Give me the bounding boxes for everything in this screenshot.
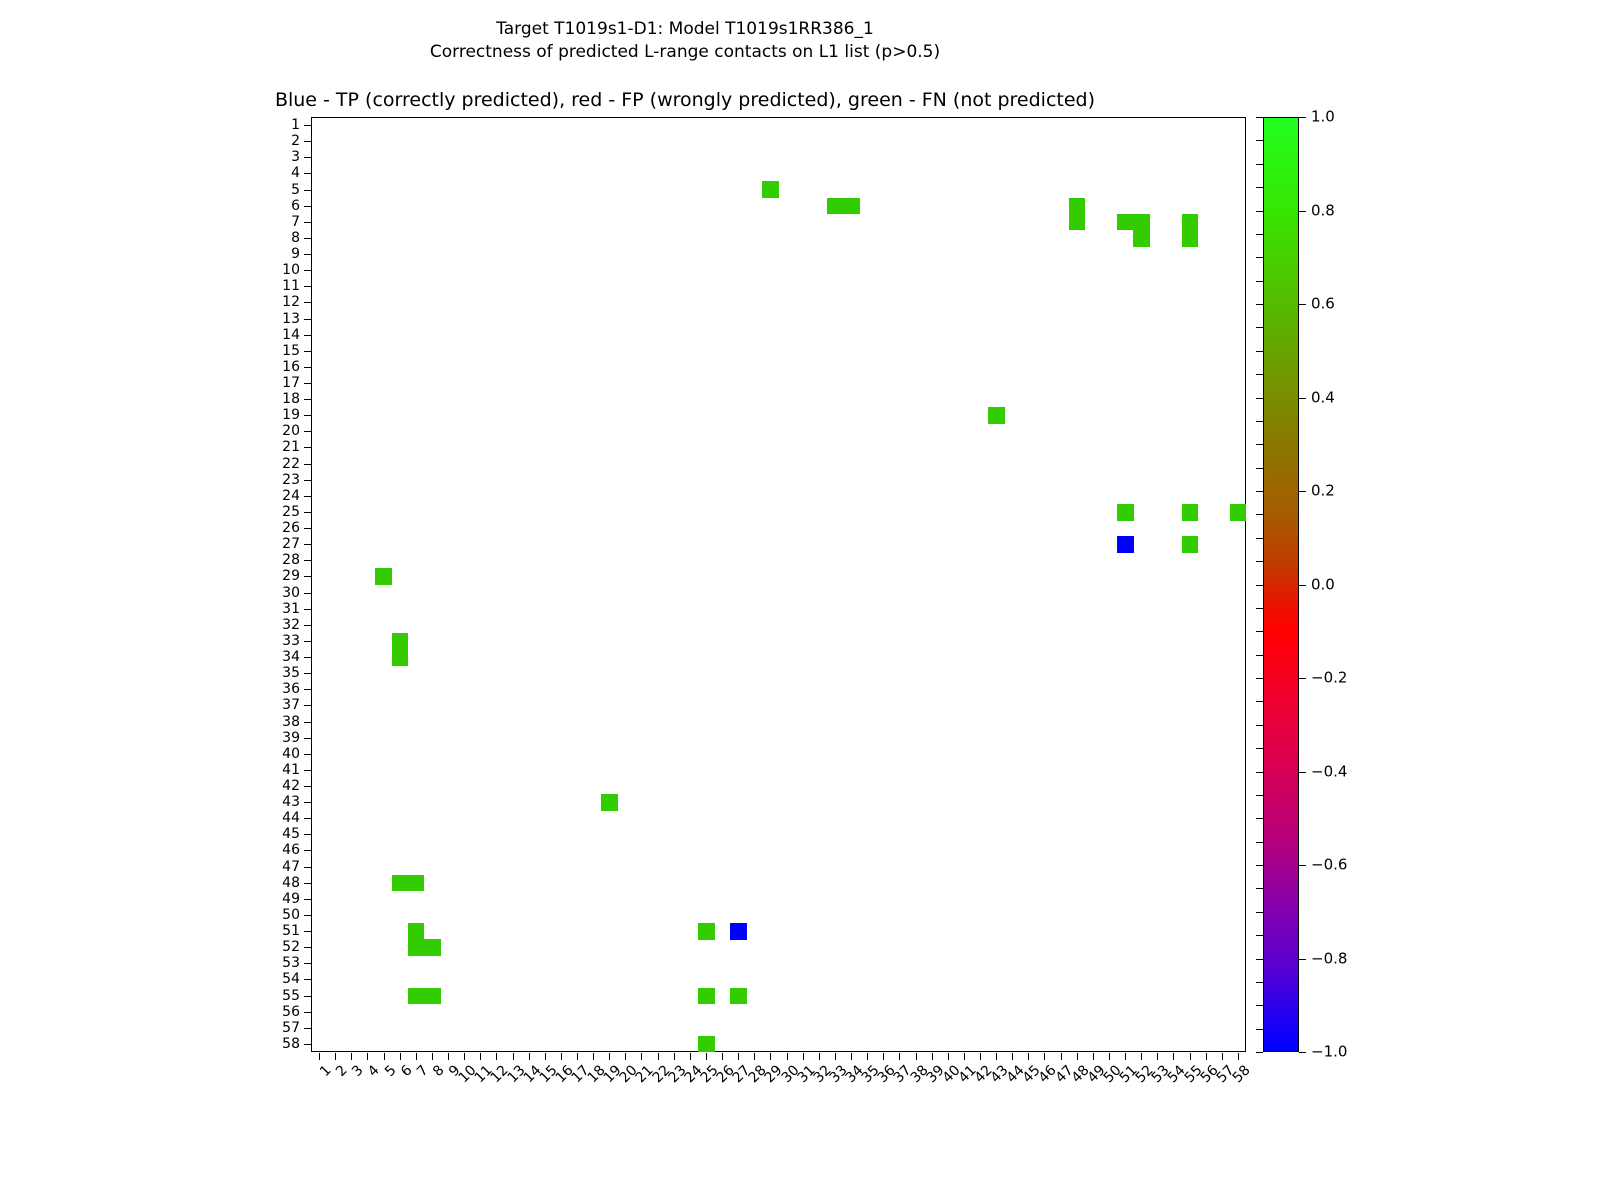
y-tick-54	[304, 979, 311, 980]
y-tick-28	[304, 560, 311, 561]
x-tick-3	[351, 1053, 352, 1060]
x-tick-label-5: 5	[382, 1063, 398, 1079]
x-tick-23	[674, 1053, 675, 1060]
x-tick-39	[932, 1053, 933, 1060]
y-tick-51	[304, 931, 311, 932]
colorbar-tick-label-0.6: 0.6	[1311, 297, 1335, 312]
colorbar-minor-tick	[1256, 514, 1263, 515]
y-tick-label-40: 40	[282, 747, 300, 761]
colorbar-minor-tick	[1256, 1029, 1263, 1030]
y-tick-8	[304, 238, 311, 239]
y-tick-22	[304, 464, 311, 465]
y-tick-label-46: 46	[282, 843, 300, 857]
contact-cell-fn-r27-c55	[1182, 536, 1199, 553]
x-tick-42	[980, 1053, 981, 1060]
y-tick-label-26: 26	[282, 521, 300, 535]
y-tick-56	[304, 1012, 311, 1013]
y-tick-18	[304, 399, 311, 400]
y-tick-57	[304, 1028, 311, 1029]
x-tick-30	[787, 1053, 788, 1060]
colorbar-tick-1.0	[1299, 117, 1306, 118]
y-tick-45	[304, 834, 311, 835]
colorbar-minor-tick	[1256, 444, 1263, 445]
x-tick-8	[432, 1053, 433, 1060]
contact-cell-fn-r6-c33	[827, 198, 844, 215]
x-tick-37	[899, 1053, 900, 1060]
y-tick-label-50: 50	[282, 908, 300, 922]
x-tick-21	[641, 1053, 642, 1060]
x-tick-28	[754, 1053, 755, 1060]
x-tick-6	[400, 1053, 401, 1060]
colorbar-tick-label-0.0: 0.0	[1311, 577, 1335, 592]
y-tick-label-39: 39	[282, 731, 300, 745]
y-tick-label-54: 54	[282, 972, 300, 986]
y-tick-49	[304, 899, 311, 900]
x-tick-44	[1012, 1053, 1013, 1060]
y-tick-24	[304, 496, 311, 497]
y-tick-label-18: 18	[282, 392, 300, 406]
x-tick-48	[1077, 1053, 1078, 1060]
y-tick-7	[304, 222, 311, 223]
colorbar-minor-tick	[1256, 398, 1263, 399]
x-tick-24	[690, 1053, 691, 1060]
colorbar-tick-label-0.2: 0.2	[1311, 484, 1335, 499]
x-tick-58	[1238, 1053, 1239, 1060]
colorbar-minor-tick	[1256, 421, 1263, 422]
colorbar-minor-tick	[1256, 468, 1263, 469]
y-tick-23	[304, 480, 311, 481]
y-tick-42	[304, 786, 311, 787]
contact-map-plot: 1234567891011121314151617181920212223242…	[311, 117, 1246, 1052]
contact-cell-fn-r55-c27	[730, 988, 747, 1005]
y-tick-label-4: 4	[291, 166, 300, 180]
colorbar-minor-tick	[1256, 608, 1263, 609]
x-tick-9	[448, 1053, 449, 1060]
contact-cell-fn-r6-c34	[843, 198, 860, 215]
y-tick-58	[304, 1044, 311, 1045]
colorbar-tick-label-0.8: 0.8	[1311, 203, 1335, 218]
contact-cell-fn-r25-c51	[1117, 504, 1134, 521]
y-tick-label-31: 31	[282, 602, 300, 616]
colorbar-minor-tick	[1256, 748, 1263, 749]
y-tick-label-19: 19	[282, 408, 300, 422]
y-tick-label-22: 22	[282, 457, 300, 471]
contact-cell-fn-r43-c19	[601, 794, 618, 811]
x-tick-40	[948, 1053, 949, 1060]
colorbar-minor-tick	[1256, 772, 1263, 773]
y-tick-label-47: 47	[282, 860, 300, 874]
y-tick-label-16: 16	[282, 360, 300, 374]
contact-cell-fn-r52-c7	[408, 939, 425, 956]
y-tick-label-36: 36	[282, 682, 300, 696]
x-tick-57	[1222, 1053, 1223, 1060]
colorbar-tick-−0.6	[1299, 865, 1306, 866]
colorbar-minor-tick	[1256, 959, 1263, 960]
y-tick-label-21: 21	[282, 440, 300, 454]
x-tick-label-1: 1	[318, 1063, 334, 1079]
x-tick-51	[1125, 1053, 1126, 1060]
x-tick-11	[480, 1053, 481, 1060]
y-tick-5	[304, 190, 311, 191]
contact-cell-fn-r7-c48	[1069, 214, 1086, 231]
colorbar-tick-label-−0.2: −0.2	[1311, 671, 1347, 686]
colorbar-minor-tick	[1256, 211, 1263, 212]
colorbar-tick-−0.4	[1299, 772, 1306, 773]
y-tick-label-11: 11	[282, 279, 300, 293]
y-tick-label-2: 2	[291, 134, 300, 148]
y-tick-35	[304, 673, 311, 674]
contact-cell-fn-r55-c25	[698, 988, 715, 1005]
contact-cell-fn-r7-c52	[1133, 214, 1150, 231]
figure-title-line-1: Target T1019s1-D1: Model T1019s1RR386_1	[0, 18, 1370, 41]
contact-cell-fn-r48-c7	[408, 875, 425, 892]
contact-cell-fn-r8-c52	[1133, 230, 1150, 247]
colorbar-tick-label-−0.6: −0.6	[1311, 858, 1347, 873]
y-tick-52	[304, 947, 311, 948]
y-tick-label-10: 10	[282, 263, 300, 277]
y-tick-39	[304, 738, 311, 739]
y-tick-44	[304, 818, 311, 819]
y-tick-label-29: 29	[282, 569, 300, 583]
y-tick-label-23: 23	[282, 473, 300, 487]
x-tick-36	[883, 1053, 884, 1060]
y-tick-label-27: 27	[282, 537, 300, 551]
y-tick-label-17: 17	[282, 376, 300, 390]
colorbar-tick-label-1.0: 1.0	[1311, 110, 1335, 125]
colorbar-minor-tick	[1256, 678, 1263, 679]
x-tick-53	[1157, 1053, 1158, 1060]
x-tick-7	[416, 1053, 417, 1060]
y-tick-50	[304, 915, 311, 916]
colorbar-minor-tick	[1256, 304, 1263, 305]
y-tick-label-35: 35	[282, 666, 300, 680]
x-tick-54	[1173, 1053, 1174, 1060]
contact-cell-fn-r19-c43	[988, 407, 1005, 424]
colorbar-minor-tick	[1256, 725, 1263, 726]
y-tick-label-25: 25	[282, 505, 300, 519]
x-tick-49	[1093, 1053, 1094, 1060]
contact-cell-fn-r51-c7	[408, 923, 425, 940]
y-tick-27	[304, 544, 311, 545]
y-tick-label-33: 33	[282, 634, 300, 648]
colorbar-minor-tick	[1256, 164, 1263, 165]
contact-cell-fn-r55-c8	[424, 988, 441, 1005]
y-tick-53	[304, 963, 311, 964]
contact-cell-tp-r51-c27	[730, 923, 747, 940]
y-tick-34	[304, 657, 311, 658]
y-tick-label-30: 30	[282, 586, 300, 600]
colorbar-tick-0.0	[1299, 585, 1306, 586]
y-tick-37	[304, 705, 311, 706]
x-tick-label-58: 58	[1230, 1063, 1253, 1086]
contact-cell-fn-r7-c51	[1117, 214, 1134, 231]
contact-cells-layer	[311, 117, 1246, 1052]
y-tick-15	[304, 351, 311, 352]
y-tick-21	[304, 447, 311, 448]
x-tick-15	[545, 1053, 546, 1060]
colorbar-tick-0.4	[1299, 398, 1306, 399]
y-tick-label-37: 37	[282, 698, 300, 712]
y-tick-2	[304, 141, 311, 142]
colorbar-minor-tick	[1256, 561, 1263, 562]
x-tick-label-2: 2	[334, 1063, 350, 1079]
contact-cell-fn-r34-c6	[392, 649, 409, 666]
contact-cell-fn-r55-c7	[408, 988, 425, 1005]
y-tick-label-8: 8	[291, 231, 300, 245]
y-tick-label-45: 45	[282, 827, 300, 841]
y-tick-3	[304, 157, 311, 158]
x-tick-22	[658, 1053, 659, 1060]
y-tick-25	[304, 512, 311, 513]
x-tick-33	[835, 1053, 836, 1060]
y-tick-55	[304, 996, 311, 997]
colorbar-minor-tick	[1256, 187, 1263, 188]
y-tick-12	[304, 302, 311, 303]
colorbar-minor-tick	[1256, 982, 1263, 983]
axes-title-legend: Blue - TP (correctly predicted), red - F…	[0, 88, 1370, 112]
colorbar-gradient	[1263, 117, 1299, 1052]
x-tick-26	[722, 1053, 723, 1060]
colorbar-minor-tick	[1256, 140, 1263, 141]
y-tick-label-34: 34	[282, 650, 300, 664]
y-tick-17	[304, 383, 311, 384]
y-tick-label-44: 44	[282, 811, 300, 825]
colorbar-minor-tick	[1256, 585, 1263, 586]
y-tick-1	[304, 125, 311, 126]
y-tick-label-51: 51	[282, 924, 300, 938]
x-tick-34	[851, 1053, 852, 1060]
x-tick-29	[770, 1053, 771, 1060]
y-tick-38	[304, 722, 311, 723]
y-tick-label-58: 58	[282, 1037, 300, 1051]
y-tick-label-3: 3	[291, 150, 300, 164]
x-tick-25	[706, 1053, 707, 1060]
colorbar-tick-0.2	[1299, 491, 1306, 492]
y-tick-label-24: 24	[282, 489, 300, 503]
x-tick-52	[1141, 1053, 1142, 1060]
colorbar-minor-tick	[1256, 842, 1263, 843]
y-tick-43	[304, 802, 311, 803]
x-tick-4	[367, 1053, 368, 1060]
x-tick-46	[1044, 1053, 1045, 1060]
colorbar-tick-label-0.4: 0.4	[1311, 390, 1335, 405]
x-tick-35	[867, 1053, 868, 1060]
contact-cell-fn-r29-c5	[375, 568, 392, 585]
contact-cell-fn-r25-c55	[1182, 504, 1199, 521]
y-tick-label-9: 9	[291, 247, 300, 261]
colorbar-tick-0.8	[1299, 211, 1306, 212]
x-tick-45	[1028, 1053, 1029, 1060]
y-tick-30	[304, 593, 311, 594]
colorbar-minor-tick	[1256, 117, 1263, 118]
x-tick-50	[1109, 1053, 1110, 1060]
colorbar-minor-tick	[1256, 935, 1263, 936]
y-tick-6	[304, 206, 311, 207]
y-tick-36	[304, 689, 311, 690]
y-tick-label-20: 20	[282, 424, 300, 438]
y-tick-label-1: 1	[291, 118, 300, 132]
colorbar-minor-tick	[1256, 865, 1263, 866]
y-tick-label-53: 53	[282, 956, 300, 970]
y-tick-10	[304, 270, 311, 271]
y-tick-label-7: 7	[291, 215, 300, 229]
x-tick-43	[996, 1053, 997, 1060]
x-tick-label-7: 7	[414, 1063, 430, 1079]
x-tick-16	[561, 1053, 562, 1060]
y-tick-20	[304, 431, 311, 432]
y-tick-label-57: 57	[282, 1021, 300, 1035]
y-tick-4	[304, 173, 311, 174]
y-tick-11	[304, 286, 311, 287]
y-tick-label-15: 15	[282, 344, 300, 358]
y-tick-label-48: 48	[282, 876, 300, 890]
contact-cell-tp-r27-c51	[1117, 536, 1134, 553]
colorbar-minor-tick	[1256, 281, 1263, 282]
y-tick-46	[304, 850, 311, 851]
y-tick-label-41: 41	[282, 763, 300, 777]
y-tick-label-56: 56	[282, 1005, 300, 1019]
colorbar-minor-tick	[1256, 912, 1263, 913]
colorbar: 1.00.80.60.40.20.0−0.2−0.4−0.6−0.8−1.0	[1263, 117, 1299, 1052]
figure-title-line-2: Correctness of predicted L-range contact…	[0, 41, 1370, 64]
y-tick-label-43: 43	[282, 795, 300, 809]
y-tick-16	[304, 367, 311, 368]
colorbar-minor-tick	[1256, 1052, 1263, 1053]
colorbar-minor-tick	[1256, 491, 1263, 492]
x-tick-47	[1061, 1053, 1062, 1060]
contact-cell-fn-r33-c6	[392, 633, 409, 650]
x-tick-label-6: 6	[398, 1063, 414, 1079]
y-tick-48	[304, 883, 311, 884]
x-tick-2	[335, 1053, 336, 1060]
y-tick-41	[304, 770, 311, 771]
contact-cell-fn-r5-c29	[762, 181, 779, 198]
x-tick-20	[625, 1053, 626, 1060]
contact-cell-fn-r7-c55	[1182, 214, 1199, 231]
colorbar-minor-tick	[1256, 631, 1263, 632]
x-tick-label-4: 4	[366, 1063, 382, 1079]
colorbar-minor-tick	[1256, 701, 1263, 702]
y-tick-9	[304, 254, 311, 255]
y-tick-14	[304, 335, 311, 336]
x-tick-13	[513, 1053, 514, 1060]
y-tick-33	[304, 641, 311, 642]
contact-cell-fn-r48-c6	[392, 875, 409, 892]
x-tick-32	[819, 1053, 820, 1060]
y-tick-label-14: 14	[282, 328, 300, 342]
contact-cell-fn-r51-c25	[698, 923, 715, 940]
y-tick-47	[304, 867, 311, 868]
x-tick-label-8: 8	[431, 1063, 447, 1079]
y-tick-label-5: 5	[291, 183, 300, 197]
x-tick-31	[803, 1053, 804, 1060]
colorbar-tick-label-−1.0: −1.0	[1311, 1045, 1347, 1060]
x-tick-1	[319, 1053, 320, 1060]
colorbar-minor-tick	[1256, 795, 1263, 796]
x-tick-14	[529, 1053, 530, 1060]
colorbar-minor-tick	[1256, 655, 1263, 656]
y-tick-32	[304, 625, 311, 626]
y-tick-label-49: 49	[282, 892, 300, 906]
y-tick-13	[304, 319, 311, 320]
x-tick-19	[609, 1053, 610, 1060]
colorbar-minor-tick	[1256, 888, 1263, 889]
x-tick-label-3: 3	[350, 1063, 366, 1079]
colorbar-minor-tick	[1256, 351, 1263, 352]
contact-cell-fn-r52-c8	[424, 939, 441, 956]
colorbar-minor-tick	[1256, 818, 1263, 819]
y-tick-label-12: 12	[282, 295, 300, 309]
y-tick-label-52: 52	[282, 940, 300, 954]
x-tick-27	[738, 1053, 739, 1060]
x-tick-17	[577, 1053, 578, 1060]
colorbar-tick-label-−0.4: −0.4	[1311, 764, 1347, 779]
colorbar-tick-−1.0	[1299, 1052, 1306, 1053]
x-tick-10	[464, 1053, 465, 1060]
contact-cell-fn-r6-c48	[1069, 198, 1086, 215]
y-tick-31	[304, 609, 311, 610]
y-tick-19	[304, 415, 311, 416]
contact-cell-fn-r58-c25	[698, 1036, 715, 1052]
x-tick-55	[1190, 1053, 1191, 1060]
colorbar-minor-tick	[1256, 538, 1263, 539]
x-tick-18	[593, 1053, 594, 1060]
y-tick-40	[304, 754, 311, 755]
colorbar-tick-0.6	[1299, 304, 1306, 305]
y-tick-label-28: 28	[282, 553, 300, 567]
x-tick-56	[1206, 1053, 1207, 1060]
colorbar-minor-tick	[1256, 1005, 1263, 1006]
colorbar-tick-label-−0.8: −0.8	[1311, 951, 1347, 966]
x-tick-41	[964, 1053, 965, 1060]
colorbar-minor-tick	[1256, 374, 1263, 375]
x-tick-12	[496, 1053, 497, 1060]
y-tick-label-38: 38	[282, 715, 300, 729]
colorbar-tick-−0.8	[1299, 959, 1306, 960]
contact-cell-fn-r25-c58	[1230, 504, 1246, 521]
colorbar-minor-tick	[1256, 234, 1263, 235]
y-tick-label-32: 32	[282, 618, 300, 632]
y-tick-label-13: 13	[282, 312, 300, 326]
y-tick-label-42: 42	[282, 779, 300, 793]
figure-title-block: Target T1019s1-D1: Model T1019s1RR386_1 …	[0, 18, 1370, 64]
colorbar-minor-tick	[1256, 327, 1263, 328]
colorbar-tick-−0.2	[1299, 678, 1306, 679]
contact-cell-fn-r8-c55	[1182, 230, 1199, 247]
y-tick-label-6: 6	[291, 199, 300, 213]
x-tick-38	[916, 1053, 917, 1060]
x-tick-5	[384, 1053, 385, 1060]
colorbar-minor-tick	[1256, 257, 1263, 258]
y-tick-label-55: 55	[282, 989, 300, 1003]
y-tick-26	[304, 528, 311, 529]
y-tick-29	[304, 576, 311, 577]
